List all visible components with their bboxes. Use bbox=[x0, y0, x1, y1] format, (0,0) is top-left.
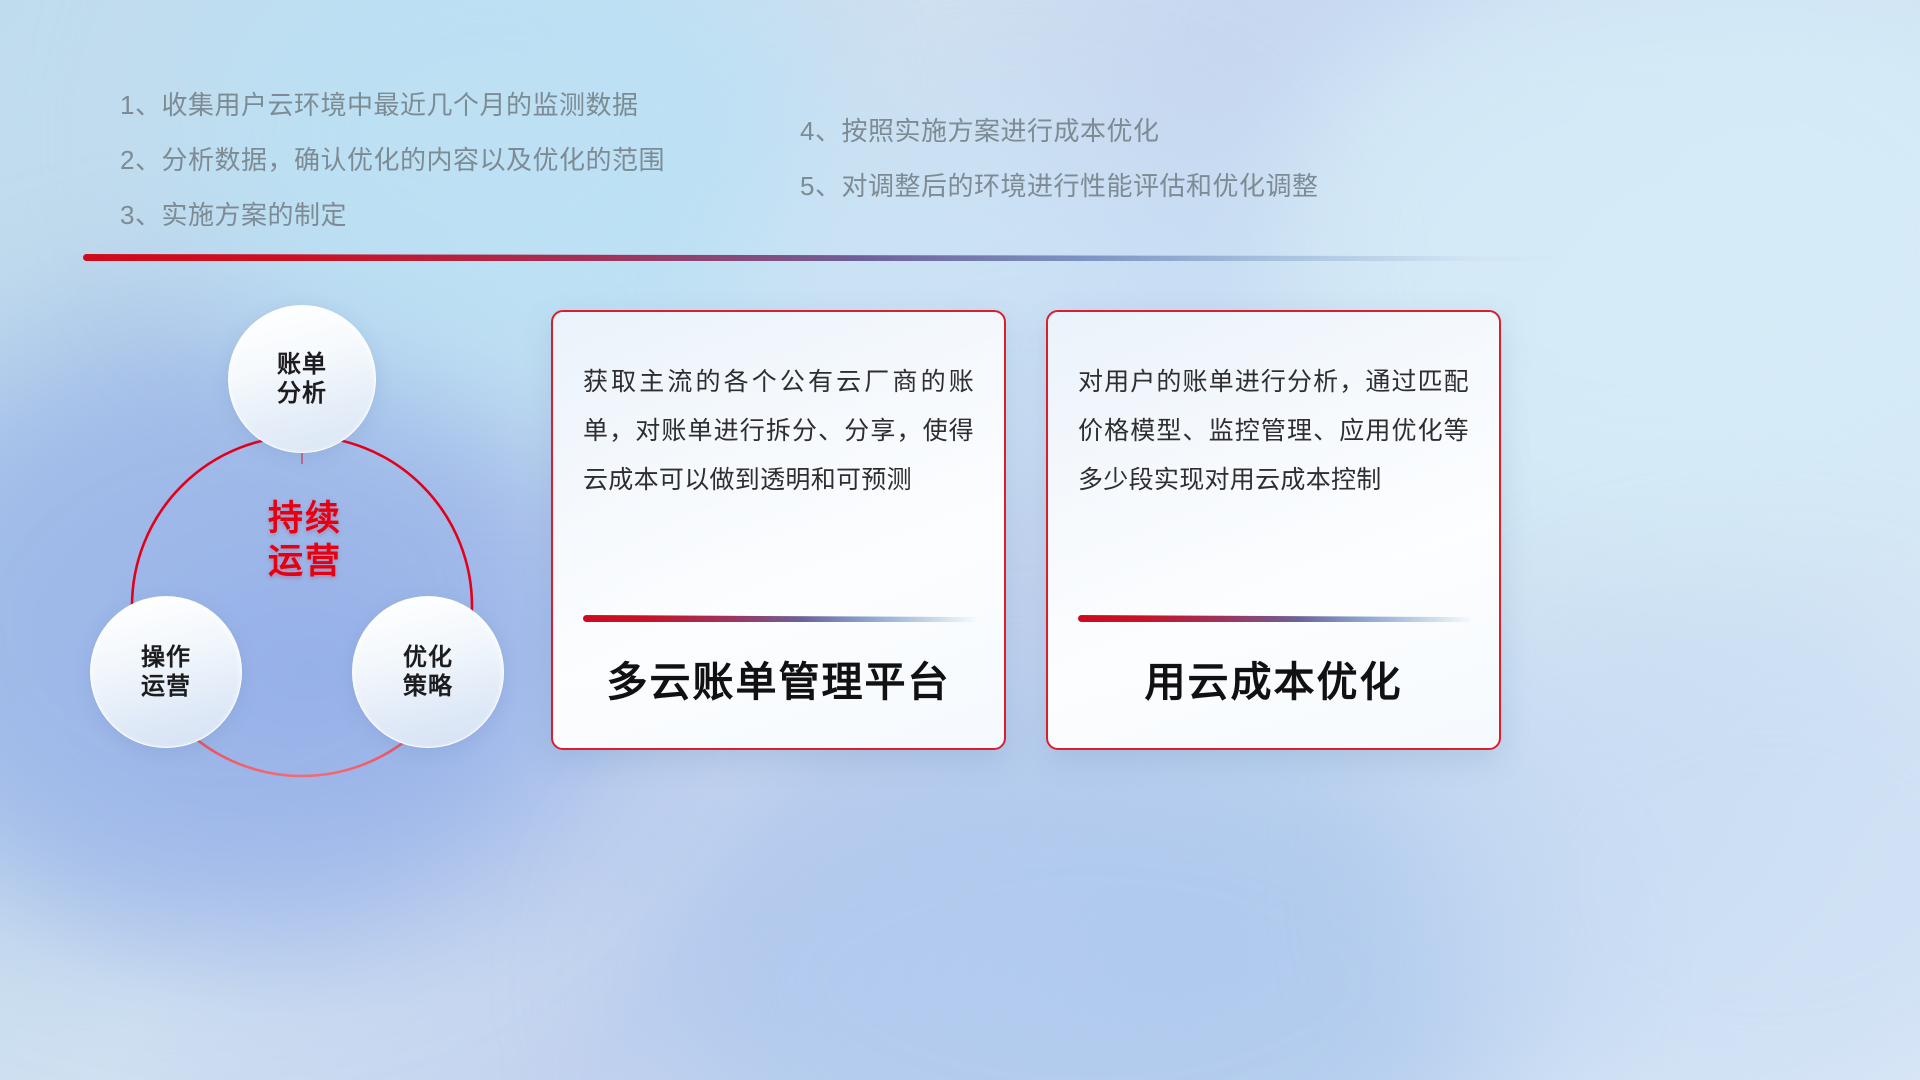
card-title: 多云账单管理平台 bbox=[583, 648, 974, 708]
steps-left-column: 1、收集用户云环境中最近几个月的监测数据 2、分析数据，确认优化的内容以及优化的… bbox=[120, 92, 665, 257]
card-cloud-cost-optimization[interactable]: 对用户的账单进行分析，通过匹配价格模型、监控管理、应用优化等多少段实现对用云成本… bbox=[1046, 310, 1501, 750]
bubble-label-line1: 账单 bbox=[277, 350, 327, 379]
center-label-line1: 持续 bbox=[220, 498, 390, 541]
center-label-line2: 运营 bbox=[220, 541, 390, 584]
steps-right-column: 4、按照实施方案进行成本优化 5、对调整后的环境进行性能评估和优化调整 bbox=[800, 118, 1318, 228]
bubble-billing-analysis[interactable]: 账单 分析 bbox=[228, 305, 376, 453]
step-item-1: 1、收集用户云环境中最近几个月的监测数据 bbox=[120, 92, 665, 118]
card-divider bbox=[1078, 615, 1470, 622]
continuous-operation-diagram: 账单 分析 操作 运营 优化 策略 持续 运营 bbox=[80, 280, 540, 780]
card-title: 用云成本优化 bbox=[1078, 648, 1469, 708]
bubble-operations[interactable]: 操作 运营 bbox=[90, 596, 242, 748]
section-divider bbox=[83, 254, 1573, 261]
diagram-center-label: 持续 运营 bbox=[220, 498, 390, 583]
bubble-label-line1: 操作 bbox=[141, 643, 191, 672]
bubble-label-line2: 分析 bbox=[277, 379, 327, 408]
bubble-label-line1: 优化 bbox=[403, 643, 453, 672]
step-item-4: 4、按照实施方案进行成本优化 bbox=[800, 118, 1318, 144]
card-divider bbox=[583, 615, 975, 622]
slide-canvas: 1、收集用户云环境中最近几个月的监测数据 2、分析数据，确认优化的内容以及优化的… bbox=[0, 0, 1920, 1080]
step-item-5: 5、对调整后的环境进行性能评估和优化调整 bbox=[800, 173, 1318, 199]
card-body-text: 获取主流的各个公有云厂商的账单，对账单进行拆分、分享，使得云成本可以做到透明和可… bbox=[583, 358, 974, 504]
bubble-label-line2: 策略 bbox=[403, 672, 453, 701]
background-blob bbox=[640, 720, 1540, 1080]
step-item-2: 2、分析数据，确认优化的内容以及优化的范围 bbox=[120, 147, 665, 173]
step-item-3: 3、实施方案的制定 bbox=[120, 202, 665, 228]
card-body-text: 对用户的账单进行分析，通过匹配价格模型、监控管理、应用优化等多少段实现对用云成本… bbox=[1078, 358, 1469, 504]
bubble-optimization-strategy[interactable]: 优化 策略 bbox=[352, 596, 504, 748]
card-multi-cloud-billing-platform[interactable]: 获取主流的各个公有云厂商的账单，对账单进行拆分、分享，使得云成本可以做到透明和可… bbox=[551, 310, 1006, 750]
bubble-label-line2: 运营 bbox=[141, 672, 191, 701]
